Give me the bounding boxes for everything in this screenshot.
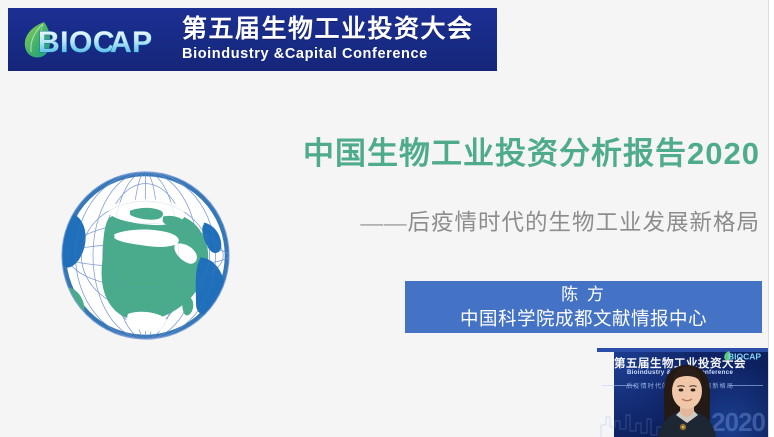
svg-text:BIOCAP: BIOCAP [728,352,761,362]
svg-text:BIOC: BIOC [38,26,115,59]
presenter-avatar [649,361,725,437]
presenter-info-box: 陈 方 中国科学院成都文献情报中心 [405,281,762,333]
presentation-slide: BIOC AP 第五届生物工业投资大会 Bioindustry &Capital… [0,0,774,437]
svg-text:AP: AP [110,26,153,59]
presenter-name: 陈 方 [405,284,762,306]
video-biocap-logo: BIOCAP [723,350,763,362]
slide-right-gutter [769,0,774,437]
biocap-logo: BIOC AP [18,16,174,64]
slide-main-title: 中国生物工业投资分析报告2020 [228,128,760,173]
conference-header-banner: BIOC AP 第五届生物工业投资大会 Bioindustry &Capital… [8,8,497,71]
speaker-video-overlay[interactable]: 第五届生物工业投资大会 Bioindustry &Capital Confere… [597,348,768,437]
slide-subtitle: ——后疫情时代的生物工业发展新格局 [280,205,760,237]
globe-icon [58,168,233,343]
header-title-en: Bioindustry &Capital Conference [182,47,474,62]
header-text-block: 第五届生物工业投资大会 Bioindustry &Capital Confere… [182,17,474,62]
header-title-cn: 第五届生物工业投资大会 [182,17,474,42]
presenter-organization: 中国科学院成都文献情报中心 [405,306,762,331]
